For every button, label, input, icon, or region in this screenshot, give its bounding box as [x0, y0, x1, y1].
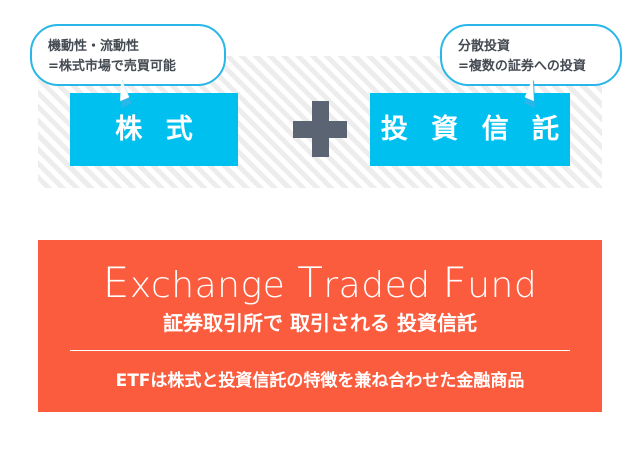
- etf-result-panel: Exchange Traded Fund 証券取引所で 取引される 投資信託 E…: [38, 240, 602, 412]
- etf-title-t: T: [297, 258, 323, 307]
- etf-title-f: F: [443, 258, 468, 307]
- etf-divider: [70, 350, 570, 351]
- speech-bubble-liquidity: 機動性・流動性 =株式市場で売買可能: [30, 24, 226, 86]
- stock-box: 株 式: [70, 93, 238, 166]
- down-arrow-mask-left: [38, 188, 270, 240]
- down-arrow-mask-right: [370, 188, 602, 240]
- etf-footnote: ETFは株式と投資信託の特徴を兼ね合わせた金融商品: [38, 366, 602, 391]
- etf-title-e: E: [103, 258, 130, 307]
- etf-subtitle: 証券取引所で 取引される 投資信託: [38, 310, 602, 336]
- speech-bubble-diversification: 分散投資 =複数の証券への投資: [440, 24, 622, 86]
- etf-title: Exchange Traded Fund: [38, 258, 602, 308]
- speech-bubble-diversification-line2: =複数の証券への投資: [458, 57, 604, 77]
- plus-icon: [293, 101, 347, 157]
- speech-bubble-liquidity-line1: 機動性・流動性: [48, 37, 208, 57]
- investment-trust-box-label: 投 資 信 託: [374, 116, 566, 143]
- stock-box-label: 株 式: [108, 116, 199, 143]
- infographic-canvas: 株 式 投 資 信 託 機動性・流動性 =株式市場で売買可能 分散投資 =複数の…: [0, 0, 640, 460]
- speech-bubble-diversification-line1: 分散投資: [458, 37, 604, 57]
- etf-title-raded: raded: [323, 265, 430, 306]
- etf-title-xchange: xchange: [130, 265, 285, 306]
- speech-bubble-liquidity-line2: =株式市場で売買可能: [48, 57, 208, 77]
- plus-icon-vertical-bar: [312, 101, 329, 157]
- etf-title-und: und: [467, 265, 537, 306]
